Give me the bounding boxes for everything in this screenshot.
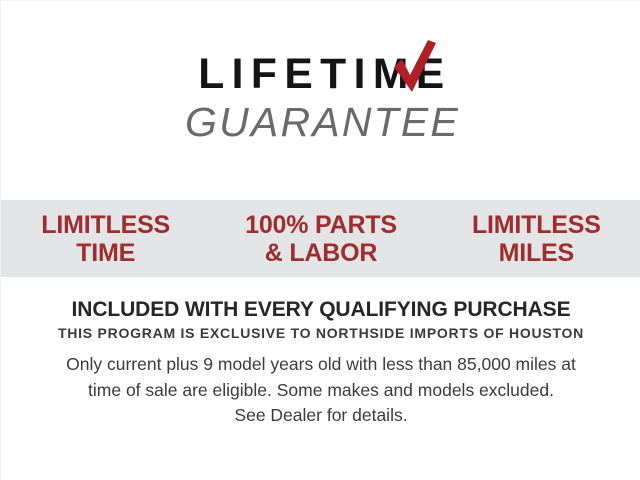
benefit-miles-line1: LIMITLESS — [434, 211, 639, 239]
fineprint-line-2: time of sale are eligible. Some makes an… — [1, 378, 640, 404]
benefit-column-limitless-miles: LIMITLESS MILES — [430, 211, 640, 267]
fineprint-block: Only current plus 9 model years old with… — [1, 352, 640, 429]
logo-lockup: LIFETIME GUARANTEE — [1, 53, 640, 144]
exclusive-subline: THIS PROGRAM IS EXCLUSIVE TO NORTHSIDE I… — [1, 325, 640, 341]
logo-lifetime-wrap: LIFETIME — [190, 53, 453, 96]
fineprint-line-1: Only current plus 9 model years old with… — [1, 352, 640, 378]
benefit-parts-line1: 100% PARTS — [218, 211, 423, 239]
benefit-time-line1: LIMITLESS — [3, 211, 208, 239]
logo-lifetime-text: LIFETIME — [191, 53, 451, 96]
logo-guarantee-text: GUARANTEE — [1, 101, 640, 144]
benefit-time-line2: TIME — [3, 239, 208, 267]
lifetime-guarantee-poster: LIFETIME GUARANTEE LIMITLESS TIME 100% P… — [0, 0, 640, 480]
benefit-miles-line2: MILES — [434, 239, 639, 267]
benefit-column-parts-labor: 100% PARTS & LABOR — [214, 211, 427, 267]
benefit-parts-line2: & LABOR — [218, 239, 423, 267]
included-headline: INCLUDED WITH EVERY QUALIFYING PURCHASE — [1, 298, 640, 322]
benefit-column-limitless-time: LIMITLESS TIME — [0, 211, 212, 267]
benefit-band: LIMITLESS TIME 100% PARTS & LABOR LIMITL… — [1, 200, 640, 277]
fineprint-line-3: See Dealer for details. — [1, 403, 640, 429]
